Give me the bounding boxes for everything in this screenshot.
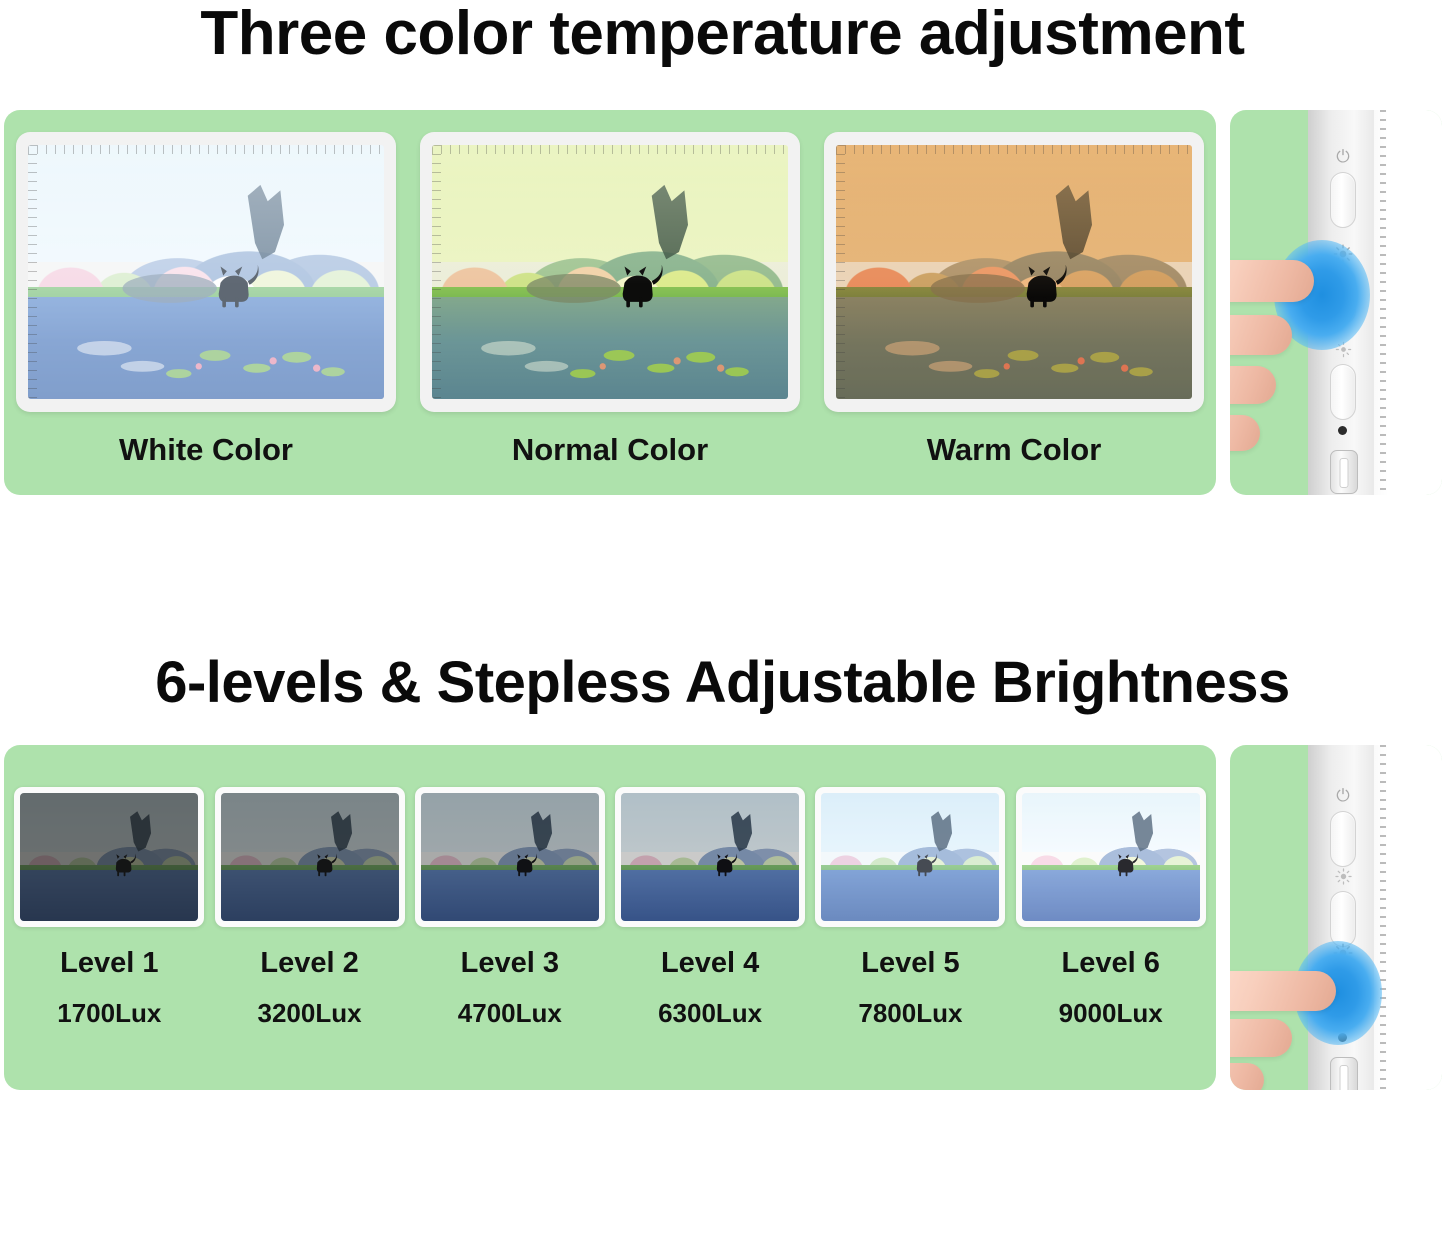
ruler-left xyxy=(836,145,845,399)
power-icon: ⏻ xyxy=(1328,146,1358,168)
power-icon: ⏻ xyxy=(1328,785,1358,807)
brightness-up-button[interactable] xyxy=(1330,891,1356,947)
brightness-level-lux: 1700Lux xyxy=(57,998,161,1029)
brightness-level-label: Level 6 xyxy=(1062,947,1160,980)
pad-screen-level-3 xyxy=(421,793,599,921)
brightness-level-lux: 7800Lux xyxy=(858,998,962,1029)
brightness-level-2: Level 2 3200Lux xyxy=(215,787,405,1029)
brightness-level-lux: 6300Lux xyxy=(658,998,762,1029)
pad-screen-white xyxy=(28,145,384,399)
infographic-page: Three color temperature adjustment ⏻ xyxy=(0,0,1445,1245)
light-pad-level-5 xyxy=(815,787,1005,927)
color-temperature-card-row: White Color xyxy=(4,110,1216,495)
light-pad-normal xyxy=(420,132,800,412)
scene-illustration xyxy=(28,145,384,399)
color-label-warm: Warm Color xyxy=(927,432,1102,468)
usb-port xyxy=(1330,1057,1358,1090)
color-label-normal: Normal Color xyxy=(512,432,708,468)
brightness-level-lux: 3200Lux xyxy=(258,998,362,1029)
color-label-white: White Color xyxy=(119,432,293,468)
brightness-level-label: Level 2 xyxy=(260,947,358,980)
pad-screen-level-2 xyxy=(221,793,399,921)
device-side-view-bottom: ⏻ xyxy=(1230,745,1442,1090)
brightness-level-label: Level 1 xyxy=(60,947,158,980)
ruler-top xyxy=(432,145,788,154)
device-texture-dots xyxy=(1380,110,1386,495)
usb-port xyxy=(1330,450,1358,494)
brightness-level-label: Level 5 xyxy=(861,947,959,980)
brightness-level-label: Level 3 xyxy=(461,947,559,980)
ruler-top xyxy=(836,145,1192,154)
brightness-level-row: Level 1 1700Lux xyxy=(4,745,1216,1090)
ruler-top xyxy=(28,145,384,154)
light-pad-level-4 xyxy=(615,787,805,927)
brightness-level-lux: 9000Lux xyxy=(1059,998,1163,1029)
scene-illustration xyxy=(432,145,788,399)
brightness-level-1: Level 1 1700Lux xyxy=(14,787,204,1029)
brightness-level-4: Level 4 6300Lux xyxy=(615,787,805,1029)
light-pad-warm xyxy=(824,132,1204,412)
brightness-level-5: Level 5 7800Lux xyxy=(815,787,1005,1029)
light-pad-white xyxy=(16,132,396,412)
brightness-high-icon xyxy=(1328,865,1358,887)
pad-screen-warm xyxy=(836,145,1192,399)
page-title-color-temperature: Three color temperature adjustment xyxy=(0,0,1445,70)
brightness-level-lux: 4700Lux xyxy=(458,998,562,1029)
stepless-brightness-slider[interactable]: Min Middle Max xyxy=(0,1120,1445,1245)
page-title-brightness: 6-levels & Stepless Adjustable Brightnes… xyxy=(0,648,1445,718)
pad-screen-level-6 xyxy=(1022,793,1200,921)
light-pad-level-1 xyxy=(14,787,204,927)
brightness-level-6: Level 6 9000Lux xyxy=(1016,787,1206,1029)
color-temperature-device-panel: ⏻ xyxy=(1230,110,1442,495)
pad-screen-level-1 xyxy=(20,793,198,921)
scene-illustration xyxy=(836,145,1192,399)
power-button[interactable] xyxy=(1330,172,1356,228)
pad-screen-level-4 xyxy=(621,793,799,921)
brightness-level-3: Level 3 4700Lux xyxy=(415,787,605,1029)
ruler-left xyxy=(28,145,37,399)
pad-screen-normal xyxy=(432,145,788,399)
led-indicator-dot xyxy=(1338,426,1347,435)
brightness-level-label: Level 4 xyxy=(661,947,759,980)
brightness-down-button[interactable] xyxy=(1330,364,1356,420)
color-card-normal: Normal Color xyxy=(420,132,800,468)
brightness-device-panel: ⏻ xyxy=(1230,745,1442,1090)
color-card-white: White Color xyxy=(16,132,396,468)
device-side-view-top: ⏻ xyxy=(1230,110,1442,495)
color-card-warm: Warm Color xyxy=(824,132,1204,468)
ruler-left xyxy=(432,145,441,399)
device-texture-dots xyxy=(1380,745,1386,1090)
light-pad-level-6 xyxy=(1016,787,1206,927)
power-button[interactable] xyxy=(1330,811,1356,867)
pad-screen-level-5 xyxy=(821,793,999,921)
light-pad-level-2 xyxy=(215,787,405,927)
light-pad-level-3 xyxy=(415,787,605,927)
